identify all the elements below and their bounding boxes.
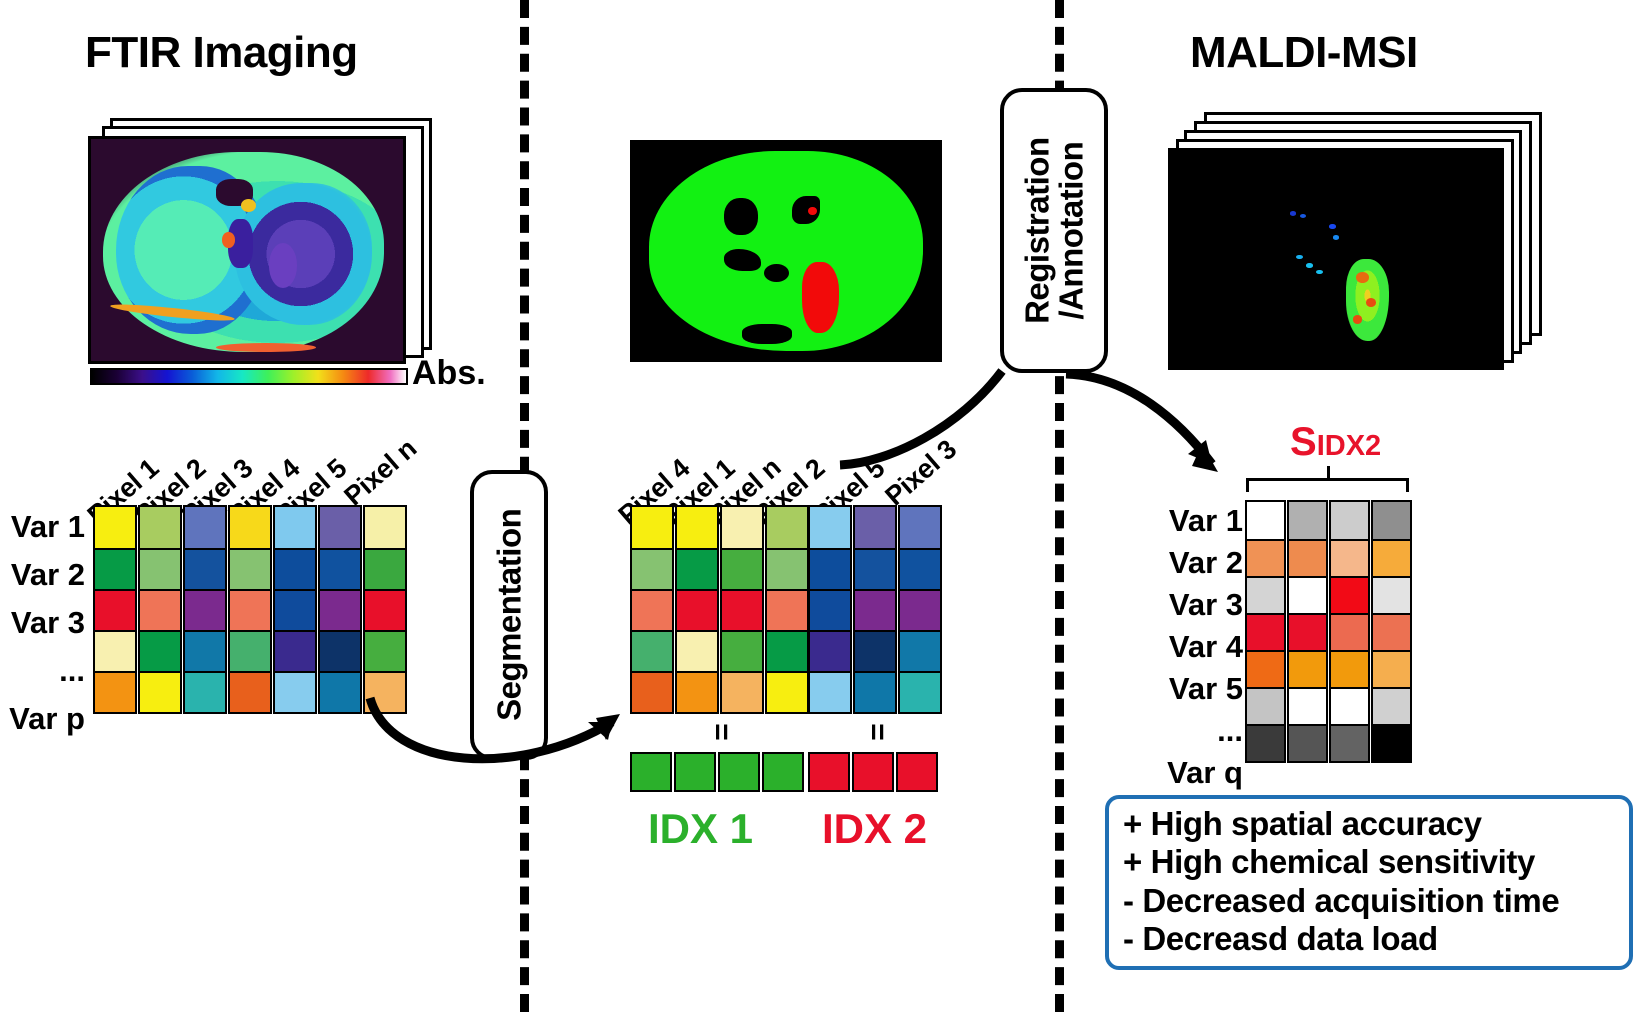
idx2-matrix-cell <box>855 630 895 671</box>
left-row-label-4: Var p <box>0 697 85 745</box>
left-matrix-cell <box>320 589 360 630</box>
idx2-cell <box>808 752 850 792</box>
right-matrix-cell <box>1373 724 1410 761</box>
s-idx2-bracket <box>1246 478 1409 492</box>
idx1-matrix-column <box>720 505 764 714</box>
left-matrix-cell <box>185 671 225 712</box>
left-matrix-column-headers: Pixel 1 Pixel 2 Pixel 3 Pixel 4 Pixel 5 … <box>0 0 520 520</box>
idx1-cell <box>630 752 672 792</box>
left-row-label-0: Var 1 <box>0 505 85 553</box>
left-matrix-cell <box>230 548 270 589</box>
left-matrix-cell <box>230 630 270 671</box>
left-matrix-column <box>183 505 227 714</box>
benefit-item: + High chemical sensitivity <box>1123 843 1615 881</box>
left-matrix-cell <box>320 507 360 548</box>
benefit-item: - Decreased acquisition time <box>1123 882 1615 920</box>
left-matrix-cell <box>95 548 135 589</box>
right-matrix-column <box>1287 500 1328 763</box>
left-matrix-column <box>273 505 317 714</box>
idx1-matrix-cell <box>677 589 717 630</box>
right-matrix-cell <box>1289 613 1326 650</box>
maldi-image-stack <box>1168 112 1548 372</box>
idx2-matrix-cell <box>855 589 895 630</box>
left-matrix-cell <box>365 507 405 548</box>
benefits-box: + High spatial accuracy+ High chemical s… <box>1105 795 1633 970</box>
s-idx2-sub: IDX2 <box>1317 430 1381 462</box>
left-matrix-cell <box>95 671 135 712</box>
right-matrix-cell <box>1247 502 1284 539</box>
idx1-matrix-column <box>675 505 719 714</box>
left-matrix-cell <box>230 589 270 630</box>
right-matrix-cell <box>1331 650 1368 687</box>
left-row-label-3: ... <box>0 649 85 697</box>
registration-inbound-arrow <box>830 355 1020 475</box>
left-matrix-cell <box>140 671 180 712</box>
idx2-matrix-cell <box>855 671 895 712</box>
equals-sign-idx2: = <box>860 723 894 741</box>
idx2-cell <box>896 752 938 792</box>
idx1-matrix-cell <box>632 589 672 630</box>
right-matrix-cell <box>1331 502 1368 539</box>
idx1-matrix-cell <box>677 630 717 671</box>
right-matrix-cell <box>1247 613 1284 650</box>
idx1-cell <box>762 752 804 792</box>
idx2-matrix-cell <box>810 507 850 548</box>
right-matrix-cell <box>1289 687 1326 724</box>
idx2-matrix-cell <box>810 589 850 630</box>
left-matrix-cell <box>185 507 225 548</box>
idx1-matrix-cell <box>722 630 762 671</box>
right-matrix-cell <box>1247 724 1284 761</box>
right-matrix-cell <box>1373 650 1410 687</box>
idx2-matrix-column <box>898 505 942 714</box>
idx2-cell <box>852 752 894 792</box>
idx1-matrix-cell <box>767 671 807 712</box>
idx2-label: IDX 2 <box>822 805 927 853</box>
benefit-item: + High spatial accuracy <box>1123 805 1615 843</box>
left-matrix-cell <box>275 548 315 589</box>
left-matrix-cell <box>320 548 360 589</box>
left-matrix-cell <box>140 589 180 630</box>
idx1-matrix-cell <box>677 548 717 589</box>
idx2-matrix-cell <box>900 548 940 589</box>
right-matrix-cell <box>1247 650 1284 687</box>
idx2-matrix-cell <box>900 630 940 671</box>
idx1-matrix-cell <box>677 507 717 548</box>
left-matrix-cell <box>365 589 405 630</box>
idx1-matrix-cell <box>722 507 762 548</box>
registration-annotation-box[interactable]: Registration /Annotation <box>1000 88 1108 373</box>
right-matrix-cell <box>1373 613 1410 650</box>
s-idx2-bracket-tick <box>1327 466 1330 480</box>
registration-label-line1: Registration <box>1018 137 1055 324</box>
idx1-matrix-cell <box>722 548 762 589</box>
right-matrix-cell <box>1247 539 1284 576</box>
left-matrix-cell <box>140 548 180 589</box>
idx1-matrix-cell <box>677 671 717 712</box>
left-matrix-cell <box>185 630 225 671</box>
right-row-label-6: Var q <box>1125 752 1243 794</box>
segmentation-arrow <box>350 660 670 790</box>
left-matrix-cell <box>275 630 315 671</box>
right-matrix-cell <box>1331 576 1368 613</box>
idx1-matrix-cell <box>767 507 807 548</box>
left-matrix-column <box>138 505 182 714</box>
right-row-label-2: Var 3 <box>1125 584 1243 626</box>
s-idx2-main: S <box>1290 420 1317 464</box>
idx2-matrix-cell <box>855 548 895 589</box>
right-row-label-5: ... <box>1125 710 1243 752</box>
left-matrix-cell <box>185 589 225 630</box>
s-idx2-label: SIDX2 <box>1290 420 1381 465</box>
right-matrix-cell <box>1373 502 1410 539</box>
page-title-maldi: MALDI-MSI <box>1190 28 1418 78</box>
right-matrix-cell <box>1373 576 1410 613</box>
idx1-cell <box>674 752 716 792</box>
right-matrix-cell <box>1247 576 1284 613</box>
right-matrix-cell <box>1331 539 1368 576</box>
right-matrix-cell <box>1289 650 1326 687</box>
idx2-matrix-cell <box>810 630 850 671</box>
left-matrix-cell <box>275 589 315 630</box>
left-matrix-cell <box>365 548 405 589</box>
right-matrix-cell <box>1331 613 1368 650</box>
idx1-matrix-cell <box>632 548 672 589</box>
left-matrix-cell <box>275 507 315 548</box>
idx2-matrix-cell <box>900 589 940 630</box>
right-matrix-cell <box>1289 502 1326 539</box>
maldi-ion-image <box>1168 148 1504 370</box>
idx2-matrix-column <box>853 505 897 714</box>
idx1-cell <box>718 752 760 792</box>
idx1-matrix-cell <box>722 671 762 712</box>
idx1-matrix-cell <box>767 630 807 671</box>
right-heatmap-matrix <box>1245 500 1412 763</box>
right-matrix-cell <box>1289 576 1326 613</box>
idx1-matrix-cell <box>632 671 672 712</box>
left-matrix-cell <box>140 507 180 548</box>
benefit-item: - Decreasd data load <box>1123 920 1615 958</box>
left-matrix-column <box>93 505 137 714</box>
right-matrix-row-labels: Var 1 Var 2 Var 3 Var 4 Var 5 ... Var q <box>1125 500 1243 794</box>
left-row-label-1: Var 2 <box>0 553 85 601</box>
left-row-label-2: Var 3 <box>0 601 85 649</box>
equals-sign-idx1: = <box>704 723 738 741</box>
right-row-label-4: Var 5 <box>1125 668 1243 710</box>
right-matrix-column <box>1371 500 1412 763</box>
idx2-matrix-cell <box>855 507 895 548</box>
right-matrix-cell <box>1331 724 1368 761</box>
right-row-label-0: Var 1 <box>1125 500 1243 542</box>
left-matrix-cell <box>230 507 270 548</box>
left-matrix-cell <box>275 671 315 712</box>
mid-heatmap-group-idx2 <box>808 505 942 714</box>
left-matrix-cell <box>95 589 135 630</box>
right-row-label-1: Var 2 <box>1125 542 1243 584</box>
left-matrix-column <box>228 505 272 714</box>
right-row-label-3: Var 4 <box>1125 626 1243 668</box>
left-matrix-cell <box>95 507 135 548</box>
right-matrix-cell <box>1247 687 1284 724</box>
right-matrix-cell <box>1289 539 1326 576</box>
idx1-matrix-cell <box>767 589 807 630</box>
right-matrix-cell <box>1331 687 1368 724</box>
idx1-matrix-cell <box>632 507 672 548</box>
idx2-bar <box>808 752 938 792</box>
idx1-label: IDX 1 <box>648 805 753 853</box>
idx1-matrix-cell <box>722 589 762 630</box>
right-matrix-column <box>1329 500 1370 763</box>
left-matrix-row-labels: Var 1 Var 2 Var 3 ... Var p <box>0 505 85 745</box>
idx1-matrix-cell <box>767 548 807 589</box>
idx1-matrix-cell <box>632 630 672 671</box>
idx2-matrix-cell <box>810 548 850 589</box>
left-matrix-cell <box>185 548 225 589</box>
idx2-matrix-cell <box>810 671 850 712</box>
idx1-matrix-column <box>765 505 809 714</box>
idx2-matrix-column <box>808 505 852 714</box>
right-matrix-cell <box>1373 539 1410 576</box>
right-matrix-column <box>1245 500 1286 763</box>
idx2-matrix-cell <box>900 507 940 548</box>
right-matrix-cell <box>1289 724 1326 761</box>
mid-heatmap-group-idx1 <box>630 505 809 714</box>
idx1-bar <box>630 752 804 792</box>
registration-label-line2: /Annotation <box>1052 142 1089 320</box>
left-matrix-cell <box>140 630 180 671</box>
left-matrix-cell <box>230 671 270 712</box>
right-matrix-cell <box>1373 687 1410 724</box>
idx1-matrix-column <box>630 505 674 714</box>
left-matrix-cell <box>95 630 135 671</box>
registration-outbound-arrow <box>1060 360 1250 490</box>
idx2-matrix-cell <box>900 671 940 712</box>
